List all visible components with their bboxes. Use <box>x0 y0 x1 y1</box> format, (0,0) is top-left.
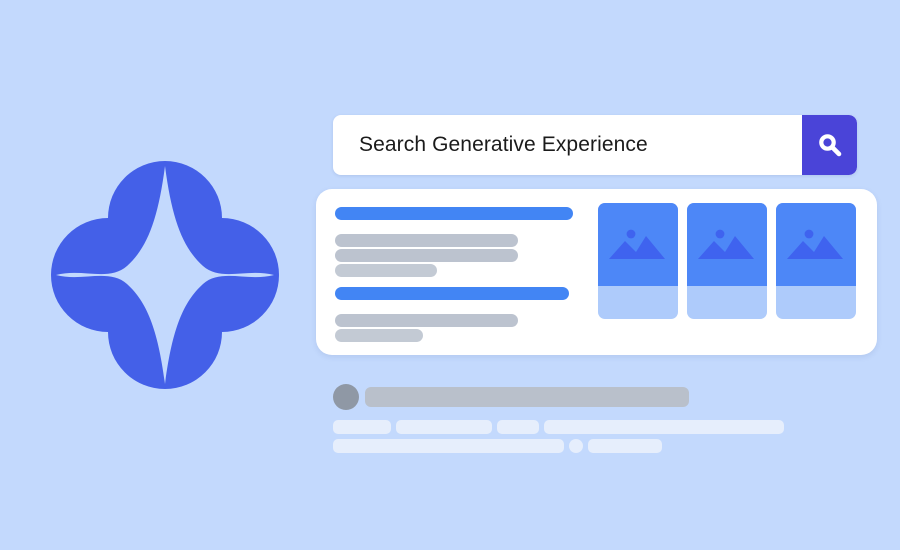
author-avatar <box>333 384 359 410</box>
logo-lobes <box>51 161 279 389</box>
search-icon <box>817 132 843 158</box>
result-snippet-1c <box>335 264 437 277</box>
chip[interactable] <box>544 420 784 434</box>
chip-dot[interactable] <box>569 439 583 453</box>
chip[interactable] <box>588 439 662 453</box>
chip-row-1 <box>333 420 784 434</box>
search-input[interactable] <box>333 115 802 175</box>
search-button[interactable] <box>802 115 857 175</box>
result-snippet-1a <box>335 234 518 247</box>
image-placeholder-icon <box>698 225 756 265</box>
results-thumbnail-strip <box>598 203 856 319</box>
result-snippet-2b <box>335 329 423 342</box>
chip[interactable] <box>333 420 391 434</box>
chip[interactable] <box>396 420 492 434</box>
page-canvas <box>0 0 900 550</box>
sge-sparkle-quatrefoil-logo <box>38 148 292 402</box>
result-title-2[interactable] <box>335 287 569 300</box>
thumbnail-preview-area <box>776 203 856 286</box>
result-snippet-1b <box>335 249 518 262</box>
bottom-skeleton-block <box>333 384 793 456</box>
chip-row-2 <box>333 439 662 453</box>
chip[interactable] <box>497 420 539 434</box>
results-card <box>316 189 877 355</box>
result-thumbnail-1[interactable] <box>598 203 678 319</box>
headline-placeholder <box>365 387 689 407</box>
result-thumbnail-2[interactable] <box>687 203 767 319</box>
image-placeholder-icon <box>787 225 845 265</box>
thumbnail-preview-area <box>687 203 767 286</box>
search-bar[interactable] <box>333 115 857 175</box>
result-snippet-2a <box>335 314 518 327</box>
thumbnail-preview-area <box>598 203 678 286</box>
result-thumbnail-3[interactable] <box>776 203 856 319</box>
result-title-1[interactable] <box>335 207 573 220</box>
image-placeholder-icon <box>609 225 667 265</box>
chip[interactable] <box>333 439 564 453</box>
